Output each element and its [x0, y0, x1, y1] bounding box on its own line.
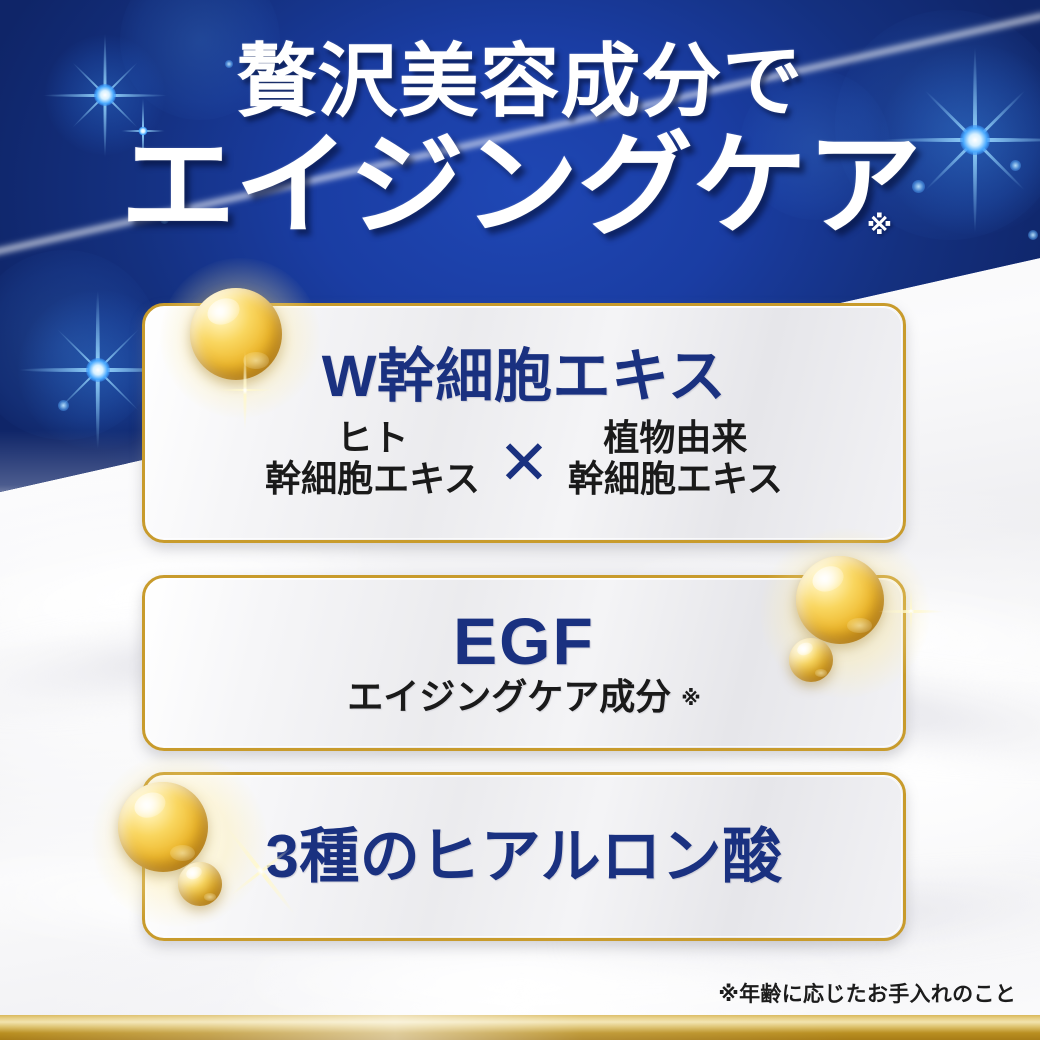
human-stem-cell-line-1: ヒト — [265, 417, 480, 458]
bokeh-orb — [835, 10, 1040, 240]
sparkle-star-icon — [885, 50, 1040, 230]
card-content: 3種のヒアルロン酸 — [145, 775, 903, 938]
cross-multiply-icon: ✕ — [496, 433, 552, 495]
egf-subtitle-asterisk: ※ — [681, 686, 700, 718]
bottom-gold-bar — [0, 1015, 1040, 1040]
footnote-text: ※年齢に応じたお手入れのこと — [718, 978, 1016, 1008]
stem-cell-cross-row: ヒト 幹細胞エキス ✕ 植物由来 幹細胞エキス — [265, 417, 783, 499]
card-content: W幹細胞エキス ヒト 幹細胞エキス ✕ 植物由来 幹細胞エキス — [145, 306, 903, 540]
sparkle-star-icon — [108, 96, 178, 166]
sparkle-dot — [225, 60, 233, 68]
ingredient-card-hyaluronic-acid[interactable]: 3種のヒアルロン酸 — [142, 772, 906, 941]
human-stem-cell-line-2: 幹細胞エキス — [265, 458, 480, 499]
card-title-egf: EGF — [453, 608, 595, 674]
human-stem-cell-group: ヒト 幹細胞エキス — [265, 417, 480, 499]
sparkle-star-icon — [40, 30, 170, 160]
bokeh-orb — [740, 70, 890, 220]
card-title-hyaluronic-acid: 3種のヒアルロン酸 — [265, 825, 782, 888]
sparkle-dot — [58, 400, 69, 411]
sparkle-dot — [1010, 160, 1021, 171]
bokeh-orb — [0, 250, 160, 440]
sparkle-dot — [1028, 230, 1038, 240]
bokeh-orb — [120, 0, 280, 120]
plant-stem-cell-group: 植物由来 幹細胞エキス — [568, 417, 783, 499]
egf-subtitle: エイジングケア成分 — [347, 676, 671, 717]
card-content: EGF エイジングケア成分 ※ — [145, 578, 903, 748]
ingredient-card-egf[interactable]: EGF エイジングケア成分 ※ — [142, 575, 906, 751]
sparkle-dot — [912, 180, 925, 193]
card-title-w-stem-cell: W幹細胞エキス — [322, 347, 727, 408]
egf-subtitle-row: エイジングケア成分 ※ — [347, 676, 700, 717]
ingredient-card-w-stem-cell[interactable]: W幹細胞エキス ヒト 幹細胞エキス ✕ 植物由来 幹細胞エキス — [142, 303, 906, 543]
sparkle-dot — [160, 215, 169, 224]
advertisement-banner: 贅沢美容成分で エイジングケア ※ W幹細胞エキス ヒト 幹細胞エキス ✕ 植物… — [0, 0, 1040, 1040]
plant-stem-cell-line-1: 植物由来 — [568, 417, 783, 458]
plant-stem-cell-line-2: 幹細胞エキス — [568, 458, 783, 499]
